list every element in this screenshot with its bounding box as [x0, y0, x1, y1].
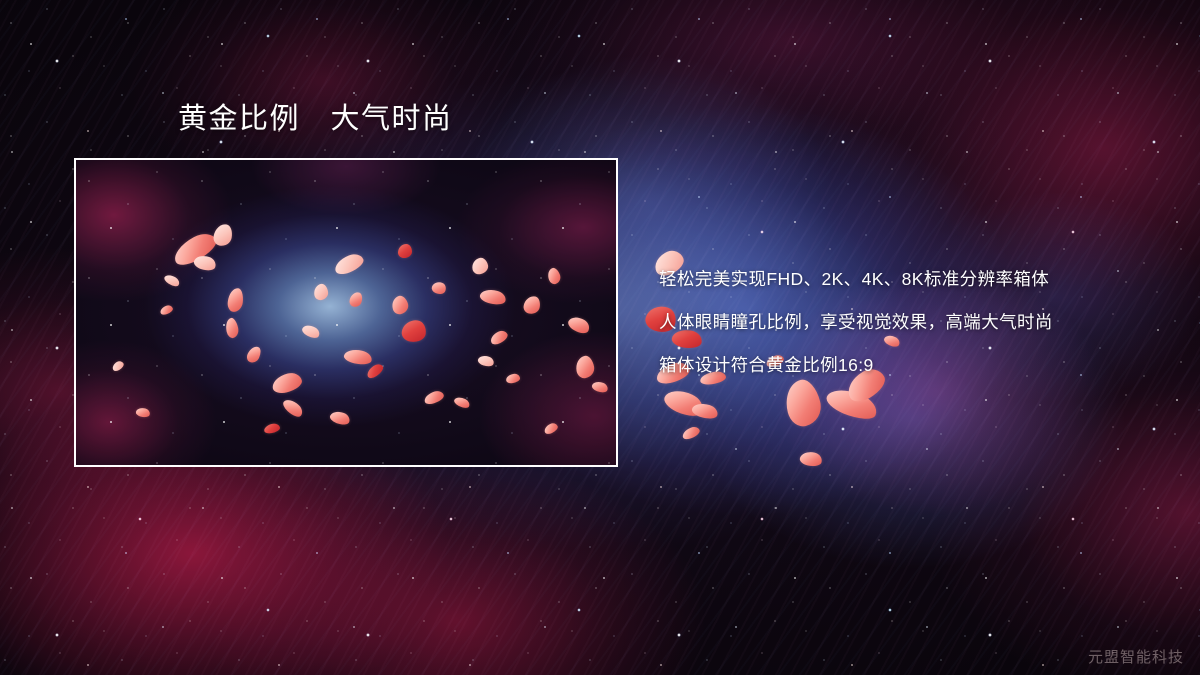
slide-canvas: 黄金比例 大气时尚 轻松完美实现FHD、2K、4K、8K标准分辨率箱体 人体眼睛…: [0, 0, 1200, 675]
petal-shape: [398, 244, 412, 258]
photo-frame: [74, 158, 618, 467]
description-line-3: 箱体设计符合黄金比例16:9: [659, 344, 1179, 387]
description-block: 轻松完美实现FHD、2K、4K、8K标准分辨率箱体 人体眼睛瞳孔比例，享受视觉效…: [659, 258, 1179, 387]
description-line-1: 轻松完美实现FHD、2K、4K、8K标准分辨率箱体: [659, 258, 1179, 301]
photo-image: [76, 160, 616, 465]
page-title: 黄金比例 大气时尚: [178, 101, 453, 137]
description-line-2: 人体眼睛瞳孔比例，享受视觉效果，高端大气时尚: [659, 301, 1179, 344]
watermark-brand: 元盟智能科技: [1088, 646, 1184, 667]
